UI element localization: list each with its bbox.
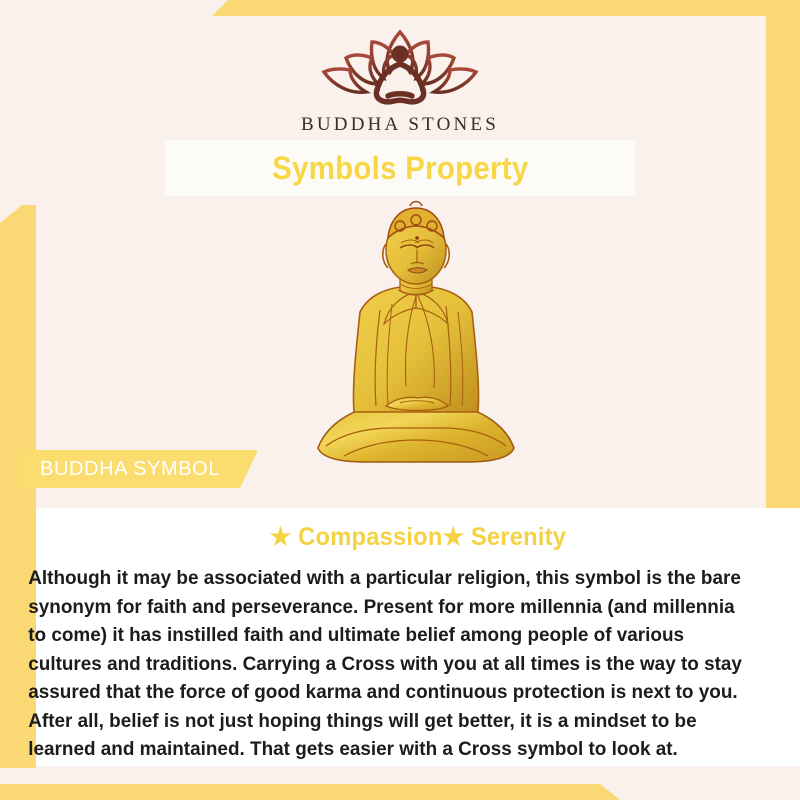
section-ribbon: BUDDHA SYMBOL — [18, 450, 258, 488]
brand-logo: BUDDHA STONES — [0, 22, 800, 136]
brand-name: BUDDHA STONES — [0, 114, 800, 136]
content-paragraph: Although it may be associated with a par… — [28, 564, 750, 764]
lotus-meditation-icon — [310, 22, 490, 110]
section-label: BUDDHA SYMBOL — [40, 458, 220, 481]
infographic-poster: BUDDHA STONES Symbols Property — [0, 0, 800, 800]
hero-image — [296, 200, 536, 490]
title-banner: Symbols Property — [165, 140, 635, 196]
page-title: Symbols Property — [272, 150, 528, 187]
content-subtitle: ★ Compassion★ Serenity — [55, 522, 781, 552]
decoration-bottom-band — [0, 784, 620, 800]
golden-buddha-statue-illustration — [296, 200, 536, 490]
content-panel: ★ Compassion★ Serenity Although it may b… — [36, 508, 800, 766]
content-paragraph-wrap: Although it may be associated with a par… — [36, 564, 777, 764]
decoration-top-band — [0, 0, 800, 16]
